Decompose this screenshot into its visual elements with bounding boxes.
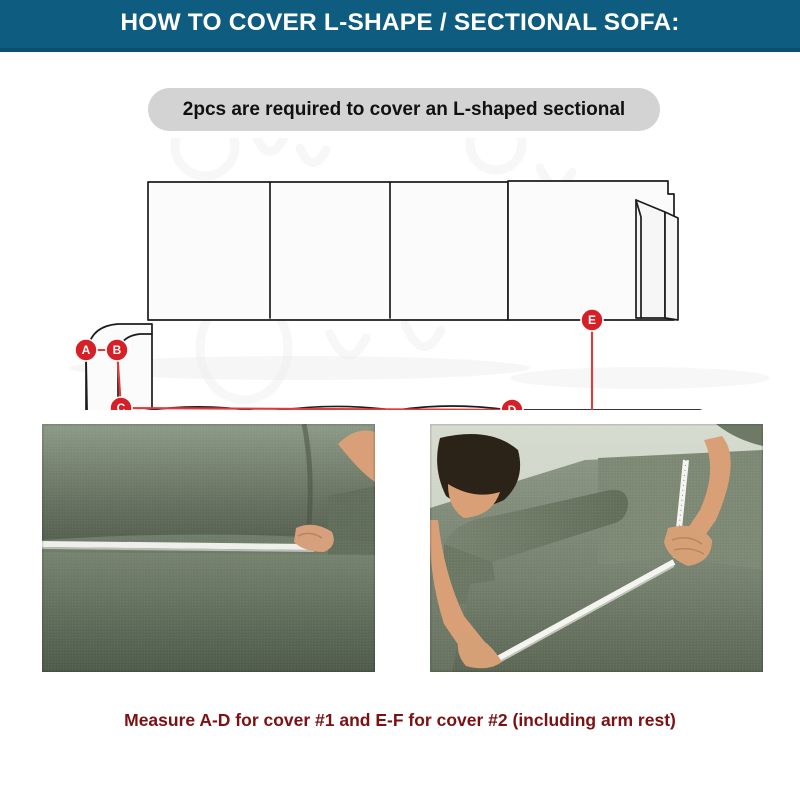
subtitle-label: 2pcs are required to cover an L-shaped s…: [183, 99, 625, 121]
marker-e: E: [581, 309, 603, 331]
footer-instruction-label: Measure A-D for cover #1 and E-F for cov…: [124, 710, 676, 731]
chaise-armrest-back: [665, 212, 678, 320]
marker-a-label: A: [82, 343, 91, 357]
photo-measuring-with-tape: [430, 424, 763, 672]
marker-e-label: E: [588, 313, 596, 327]
instruction-photos: [0, 420, 800, 676]
photo-measuring-seat-length: [42, 424, 375, 672]
subtitle-badge: 2pcs are required to cover an L-shaped s…: [148, 88, 660, 131]
marker-c-label: C: [117, 401, 126, 410]
marker-b: B: [106, 339, 128, 361]
header-banner: HOW TO COVER L-SHAPE / SECTIONAL SOFA:: [0, 0, 800, 52]
marker-b-label: B: [113, 343, 122, 357]
sofa-backrest: [148, 182, 508, 320]
sofa-diagram: A B C D E F: [0, 138, 800, 410]
footer-caption: Measure A-D for cover #1 and E-F for cov…: [0, 700, 800, 740]
marker-a: A: [75, 339, 97, 361]
marker-d: D: [501, 399, 523, 410]
chaise-shadow: [510, 367, 770, 389]
marker-d-label: D: [508, 403, 517, 410]
page-title: HOW TO COVER L-SHAPE / SECTIONAL SOFA:: [120, 9, 679, 37]
